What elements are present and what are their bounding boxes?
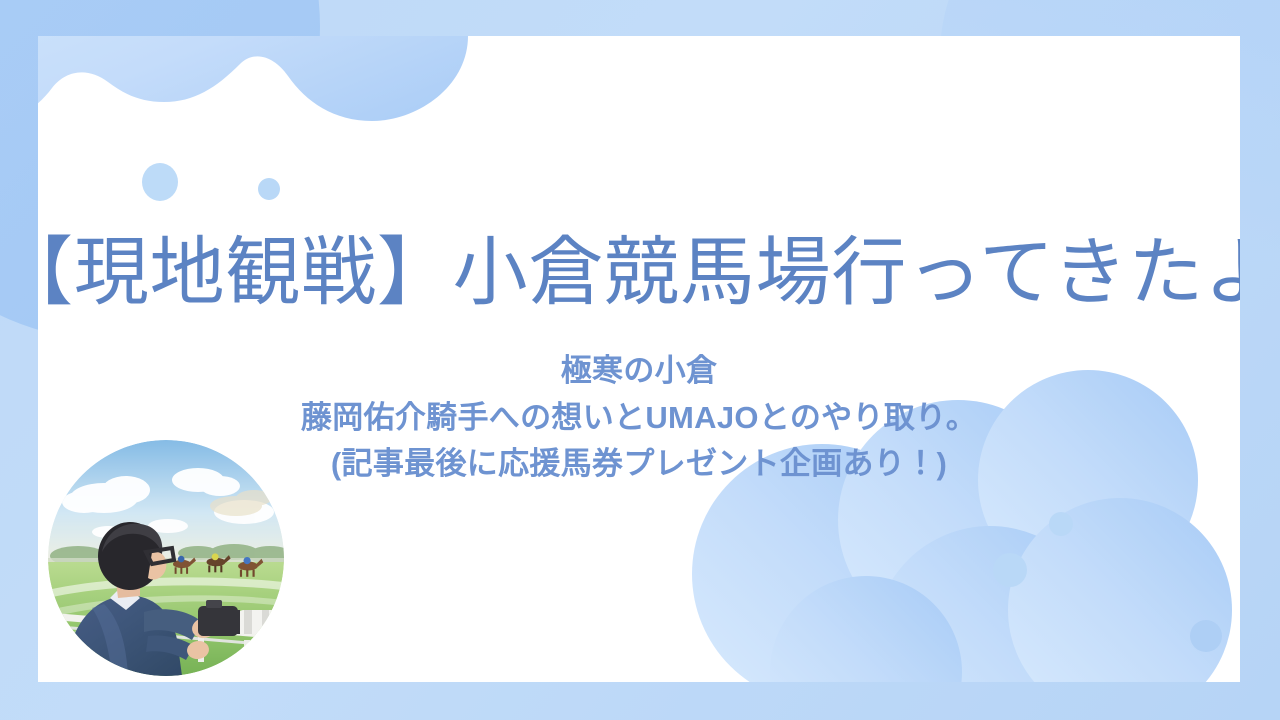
page-title: 【現地観戦】小倉競馬場行ってきたよ (38, 230, 1240, 314)
subtitle-line-1: 極寒の小倉 (301, 348, 977, 395)
avatar (48, 440, 284, 676)
subtitle-line-2: 藤岡佑介騎手への想いとUMAJOとのやり取り。 (301, 395, 977, 442)
subtitle: 極寒の小倉 藤岡佑介騎手への想いとUMAJOとのやり取り。 (記事最後に応援馬券… (301, 348, 977, 488)
content-card: 【現地観戦】小倉競馬場行ってきたよ 極寒の小倉 藤岡佑介騎手への想いとUMAJO… (38, 36, 1240, 682)
eyecatch-canvas: 【現地観戦】小倉競馬場行ってきたよ 極寒の小倉 藤岡佑介騎手への想いとUMAJO… (0, 0, 1280, 720)
subtitle-line-3: (記事最後に応援馬券プレゼント企画あり！) (301, 441, 977, 488)
